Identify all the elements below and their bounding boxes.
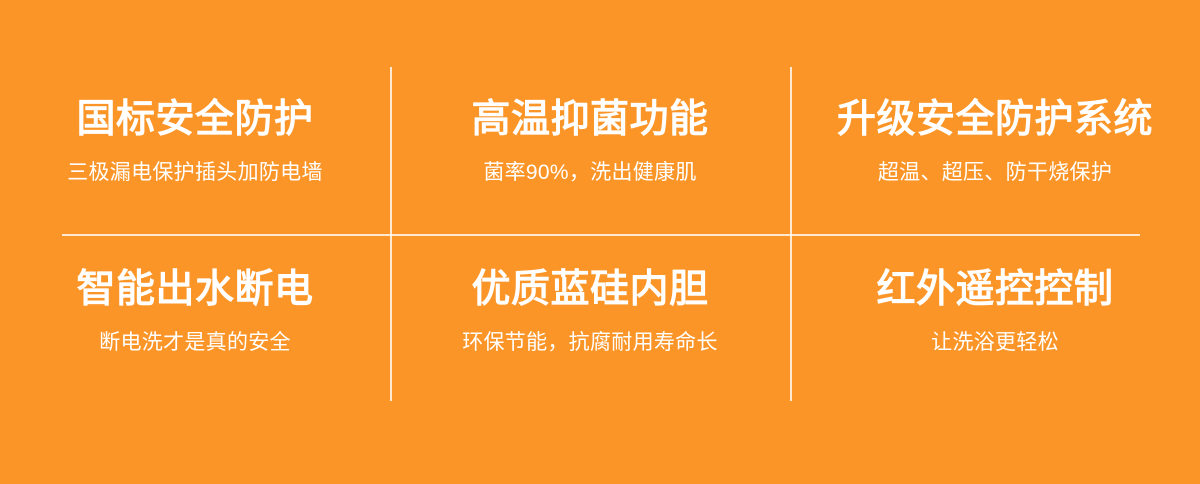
feature-subtitle: 环保节能，抗腐耐用寿命长 [462,330,718,355]
feature-title: 升级安全防护系统 [837,98,1153,142]
feature-cell-5: 优质蓝硅内胆 环保节能，抗腐耐用寿命长 [390,235,790,484]
feature-cell-3: 升级安全防护系统 超温、超压、防干烧保护 [790,0,1200,235]
feature-cell-6: 红外遥控控制 让洗浴更轻松 [790,235,1200,484]
feature-subtitle: 让洗浴更轻松 [931,330,1059,355]
feature-title: 高温抑菌功能 [471,98,708,142]
feature-title: 红外遥控控制 [876,268,1113,312]
feature-title: 优质蓝硅内胆 [471,268,708,312]
feature-cell-4: 智能出水断电 断电洗才是真的安全 [0,235,390,484]
feature-cell-1: 国标安全防护 三极漏电保护插头加防电墙 [0,0,390,235]
feature-subtitle: 菌率90%，洗出健康肌 [483,160,696,185]
feature-subtitle: 超温、超压、防干烧保护 [878,160,1112,185]
feature-subtitle: 三极漏电保护插头加防电墙 [67,160,323,185]
horizontal-divider [62,234,1140,236]
feature-cell-2: 高温抑菌功能 菌率90%，洗出健康肌 [390,0,790,235]
feature-title: 智能出水断电 [76,268,313,312]
feature-title: 国标安全防护 [76,98,313,142]
feature-grid: 国标安全防护 三极漏电保护插头加防电墙 高温抑菌功能 菌率90%，洗出健康肌 升… [0,0,1200,484]
feature-subtitle: 断电洗才是真的安全 [99,330,291,355]
feature-banner: 国标安全防护 三极漏电保护插头加防电墙 高温抑菌功能 菌率90%，洗出健康肌 升… [0,0,1200,484]
